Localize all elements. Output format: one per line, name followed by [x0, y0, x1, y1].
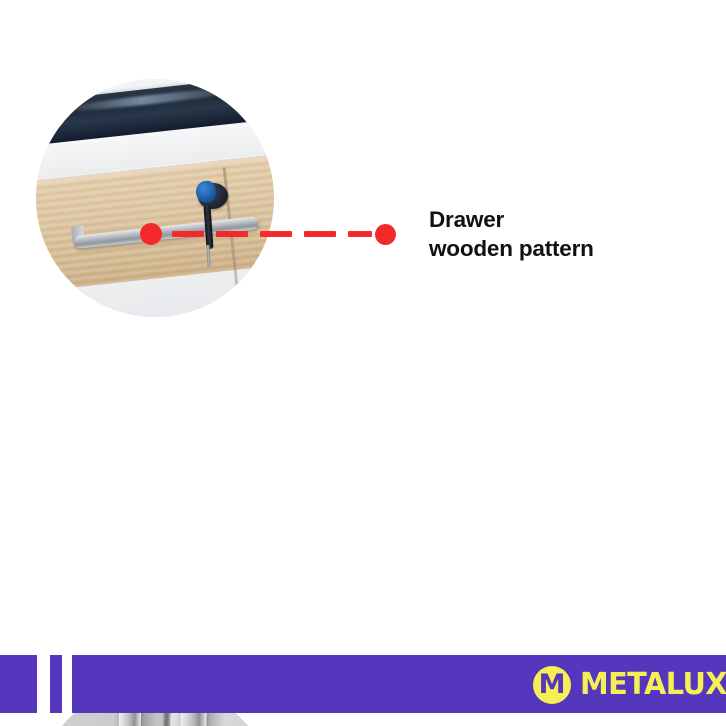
- feature-title-line2: wooden pattern: [429, 235, 594, 264]
- metalux-wordmark-text: METALUX: [580, 670, 726, 700]
- connector-dash: [304, 231, 336, 237]
- connector-dash: [260, 231, 292, 237]
- metalux-emblem-icon: M: [533, 666, 571, 704]
- drawer-wooden-pattern-photo: [36, 79, 274, 317]
- connector-dash: [348, 231, 372, 237]
- connector-dash: [172, 231, 204, 237]
- connector-dot-on-label: [375, 224, 396, 245]
- feature-row-drawer: Drawer wooden pattern: [0, 0, 726, 340]
- connector-dot-on-photo: [140, 223, 162, 245]
- product-feature-infographic: Drawer wooden pattern Handle alum: [0, 0, 726, 726]
- feature-label-drawer: Drawer wooden pattern: [429, 206, 594, 263]
- footer-accent-block-a: [0, 655, 37, 713]
- connector-dash: [216, 231, 248, 237]
- feature-title-line1: Drawer: [429, 206, 594, 235]
- feature-row-handle: Handle aluminium Tidak mudah karat: [0, 330, 726, 630]
- metalux-wordmark: METALUX ®: [580, 670, 726, 700]
- connector-line-drawer: [140, 222, 396, 246]
- metalux-logo: M METALUX ®: [533, 664, 708, 706]
- metalux-emblem-letter: M: [539, 671, 566, 698]
- footer-accent-block-b: [50, 655, 62, 713]
